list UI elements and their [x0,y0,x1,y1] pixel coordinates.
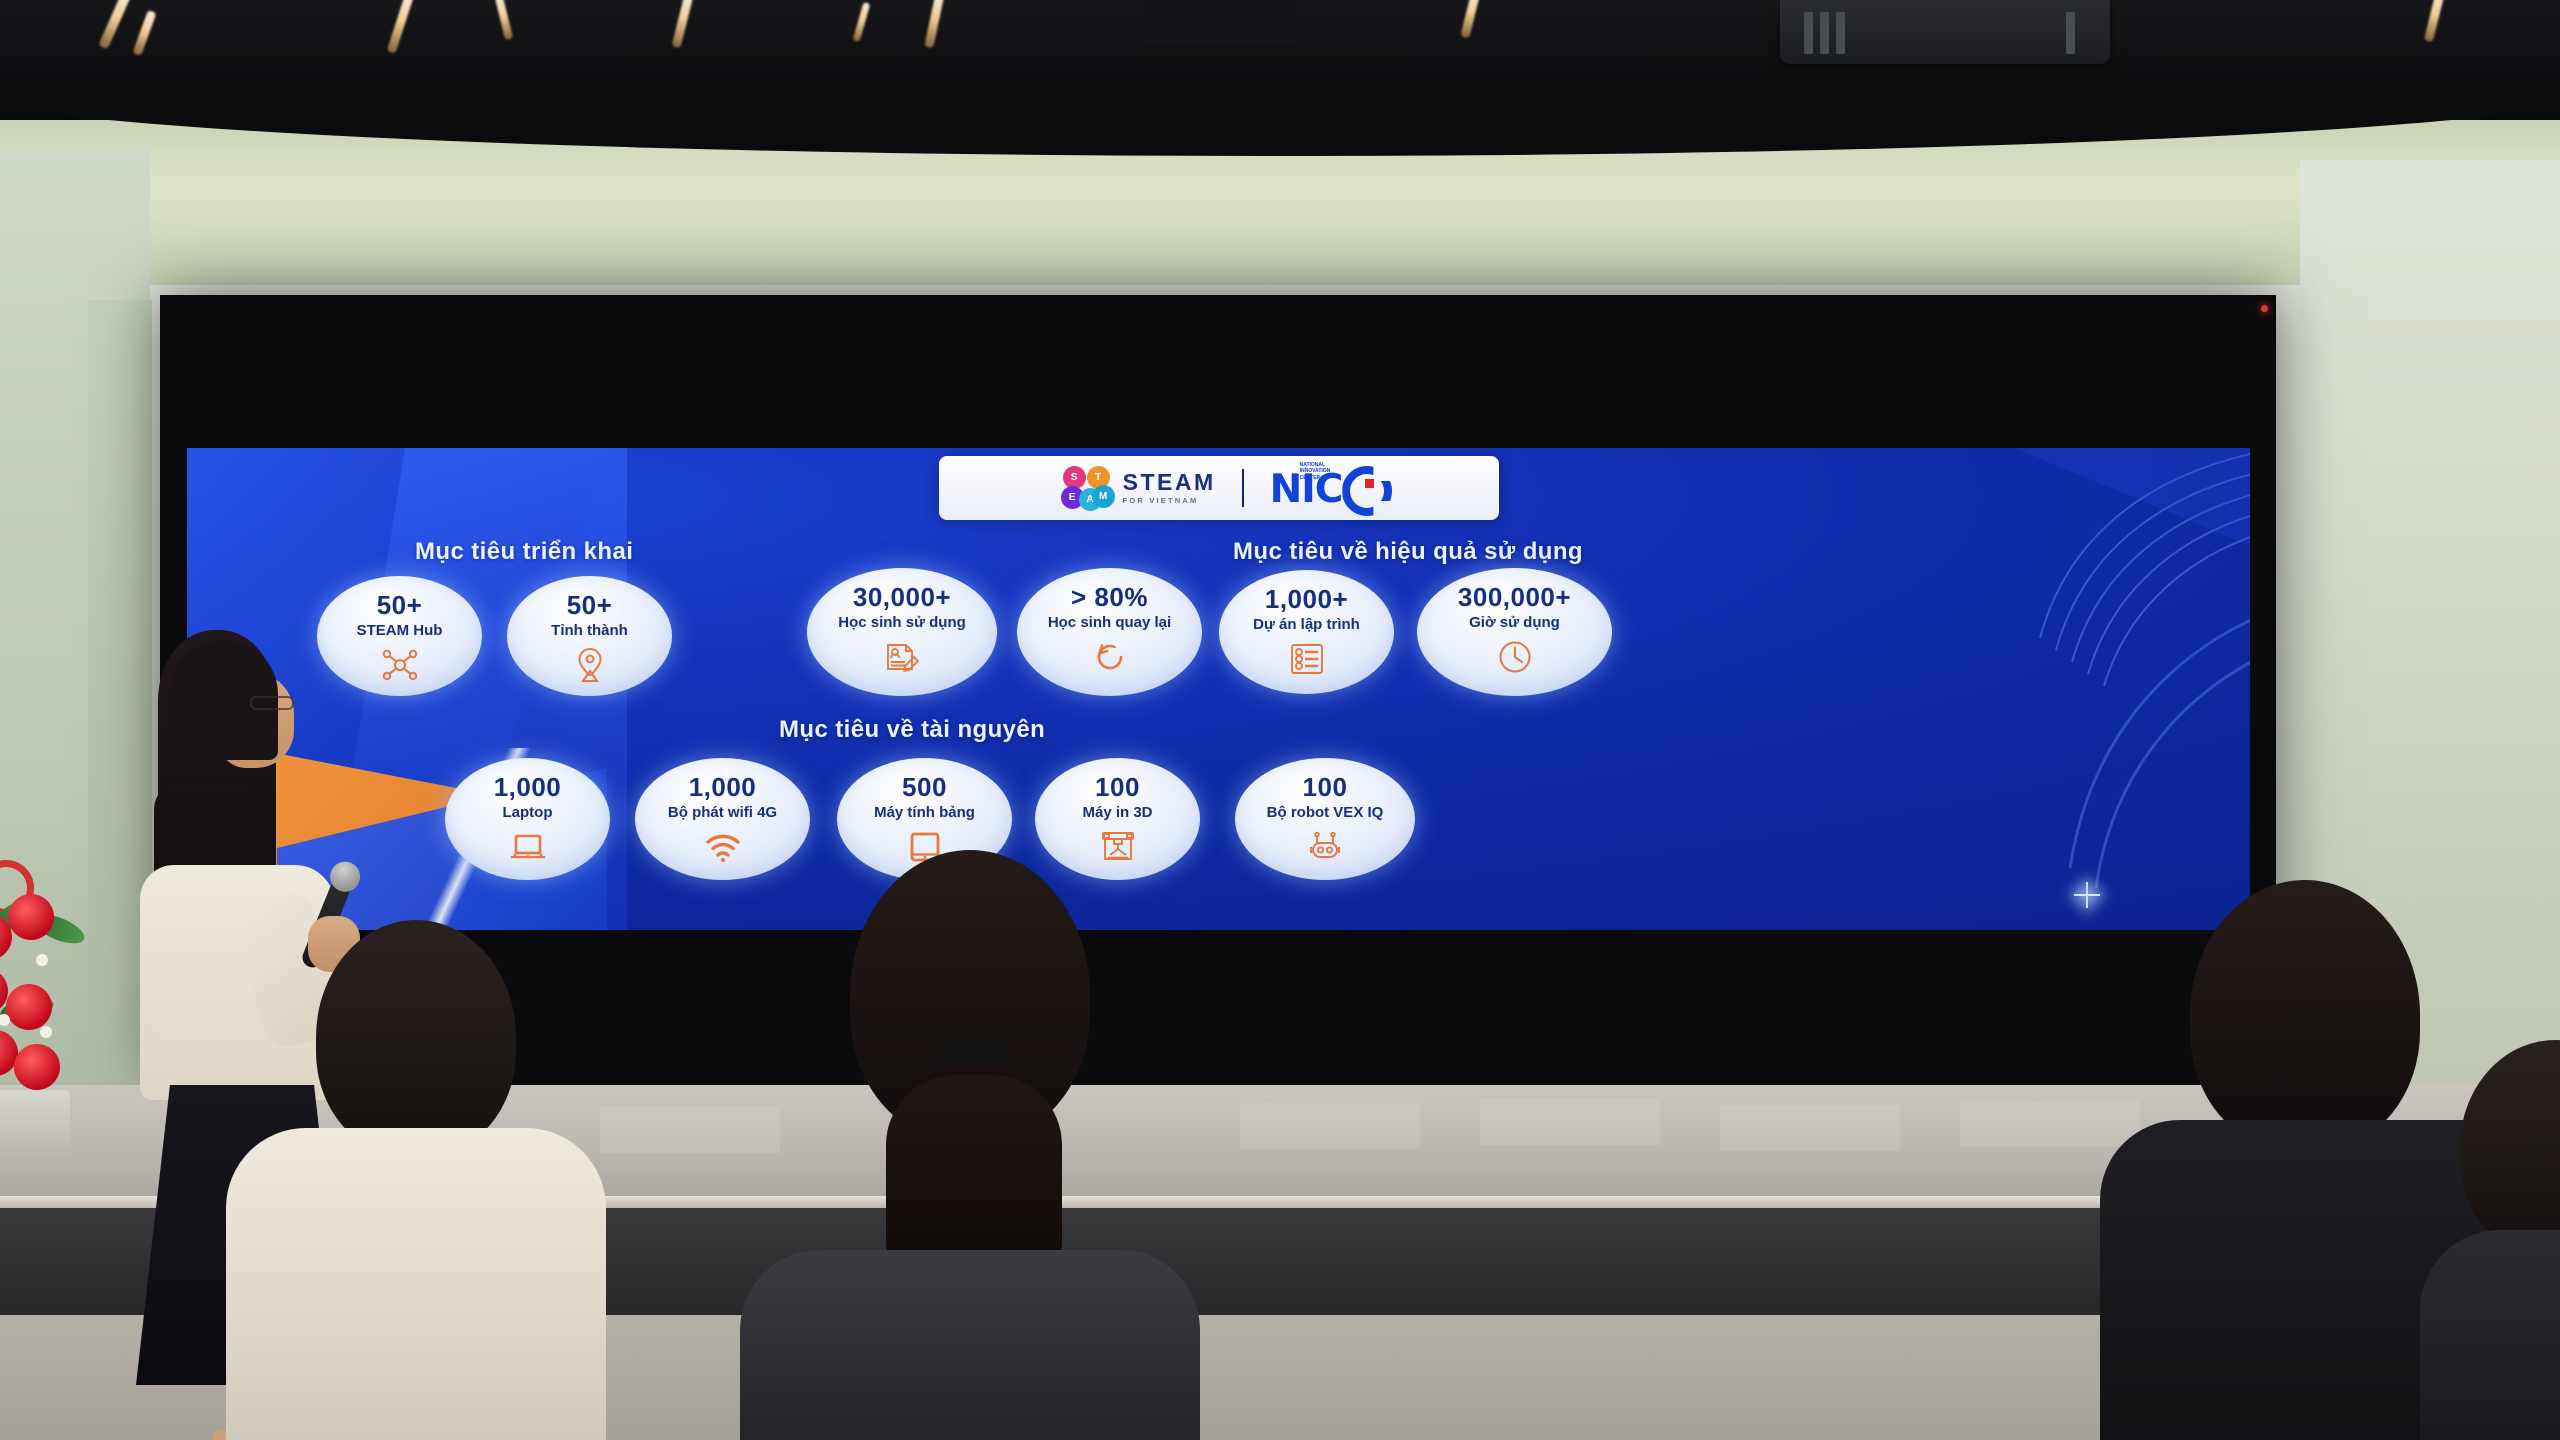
document-pencil-icon [882,637,922,677]
stat-value: 100 [1303,774,1348,800]
steam-dots-icon: S T E A M [1061,466,1113,510]
stat-bubble-hoc-sinh-quay-lai[interactable]: > 80% Học sinh quay lại [1017,568,1202,696]
conference-hall-scene: S T E A M STEAM FOR VIETNAM NIC NATI [0,0,2560,1440]
ceiling-projector [1780,0,2110,64]
stat-label: Laptop [503,805,553,820]
stat-label: Dự án lập trình [1253,617,1360,632]
stat-bubble-robot-vex-iq[interactable]: 100 Bộ robot VEX IQ [1235,758,1415,880]
ceiling-light-strip [495,0,513,40]
rose [8,894,54,940]
audience-member-center [760,850,1180,1440]
slide-logo-bar: S T E A M STEAM FOR VIETNAM NIC NATI [939,456,1499,520]
stat-value: 100 [1095,774,1140,800]
wifi-icon [703,827,743,867]
stat-value: 50+ [377,592,423,618]
stat-value: 50+ [567,592,613,618]
stat-value: 300,000+ [1458,584,1571,610]
stat-label: Học sinh sử dụng [838,615,966,630]
nic-logo: NIC NATIONAL INNOVATION CENTER [1270,464,1377,512]
ceiling-light-strip [924,0,944,48]
ceiling-light-strip [853,2,871,42]
logo-divider [1242,469,1244,507]
code-list-icon [1287,639,1327,679]
audience-shoulders [226,1128,606,1440]
steam-tagline: FOR VIETNAM [1123,497,1216,505]
stat-label: Giờ sử dụng [1469,615,1560,630]
stat-bubble-tinh-thanh[interactable]: 50+ Tỉnh thành [507,576,672,696]
nic-subtext: NATIONAL INNOVATION CENTER [1300,462,1331,481]
floor-tile [1480,1099,1660,1145]
steam-for-vietnam-logo: S T E A M STEAM FOR VIETNAM [1061,466,1216,510]
return-arrow-icon [1090,637,1130,677]
audience-head [2190,880,2420,1150]
stat-value: 30,000+ [853,584,951,610]
stat-label: Tỉnh thành [551,623,628,638]
floor-tile [1960,1101,2140,1147]
audience-head [2460,1040,2560,1255]
stat-value: 1,000 [689,774,757,800]
audience-head [316,920,516,1155]
stat-value: > 80% [1071,584,1148,610]
audience-member-far-right [2450,1040,2560,1440]
stat-value: 1,000+ [1265,586,1348,612]
nic-subtext-line2: INNOVATION [1300,468,1331,474]
floor-tile [1240,1103,1420,1149]
location-pin-icon [570,645,610,685]
red-roses-bouquet [0,880,120,1160]
network-icon [380,645,420,685]
group-title-trien-khai: Mục tiêu triển khai [415,538,633,566]
stat-label: Bộ robot VEX IQ [1267,805,1384,820]
stat-label: Học sinh quay lại [1048,615,1171,630]
steam-dot: M [1092,485,1115,508]
ceiling-light-strip [132,10,156,56]
ceiling-light-strip [1460,0,1480,38]
clock-icon [1495,637,1535,677]
nic-subtext-line1: NATIONAL [1300,462,1325,468]
stat-bubble-gio-su-dung[interactable]: 300,000+ Giờ sử dụng [1417,568,1612,696]
audience-shoulders [2420,1230,2560,1440]
babys-breath [0,1014,10,1026]
slide-decor-sparkle [2074,882,2100,908]
floor-tile [1720,1105,1900,1151]
steam-name: STEAM [1123,471,1216,494]
ceiling-light-strip [672,0,694,48]
floor-tile [600,1107,780,1153]
presentation-slide: S T E A M STEAM FOR VIETNAM NIC NATI [187,448,2250,930]
audience-member-left [236,920,596,1440]
nic-dot-accent [1365,479,1374,488]
glasses-icon [250,696,294,710]
nic-subtext-line3: CENTER [1300,475,1321,481]
stat-label: Máy in 3D [1082,805,1152,820]
ceiling-light-strip [98,0,132,49]
ceiling-light-strip [2424,0,2445,42]
slide-decor-arcs [1740,448,2250,930]
hair-clip-icon [942,1040,1008,1066]
babys-breath [36,954,48,966]
group-title-hieu-qua: Mục tiêu về hiệu quả sử dụng [1233,538,1583,566]
stat-bubble-hoc-sinh-su-dung[interactable]: 30,000+ Học sinh sử dụng [807,568,997,696]
rose [14,1044,60,1090]
stat-value: 500 [902,774,947,800]
stat-label: Máy tính bảng [874,805,975,820]
group-title-tai-nguyen: Mục tiêu về tài nguyên [779,716,1045,744]
flower-vase [0,1090,70,1160]
babys-breath [40,1026,52,1038]
ceiling-vent [1145,0,1295,46]
rose [6,984,52,1030]
nic-c-mark-icon [1342,464,1376,502]
robot-icon [1305,827,1345,867]
ceiling-light-strip [387,0,415,54]
stat-bubble-du-an-lap-trinh[interactable]: 1,000+ Dự án lập trình [1219,570,1394,694]
steam-wordmark: STEAM FOR VIETNAM [1123,471,1216,505]
audience-shoulders [740,1250,1200,1440]
laptop-icon [508,827,548,867]
stat-label: Bộ phát wifi 4G [668,805,777,820]
stat-value: 1,000 [494,774,562,800]
stat-bubble-laptop[interactable]: 1,000 Laptop [445,758,610,880]
upper-wall-band [0,120,2560,300]
